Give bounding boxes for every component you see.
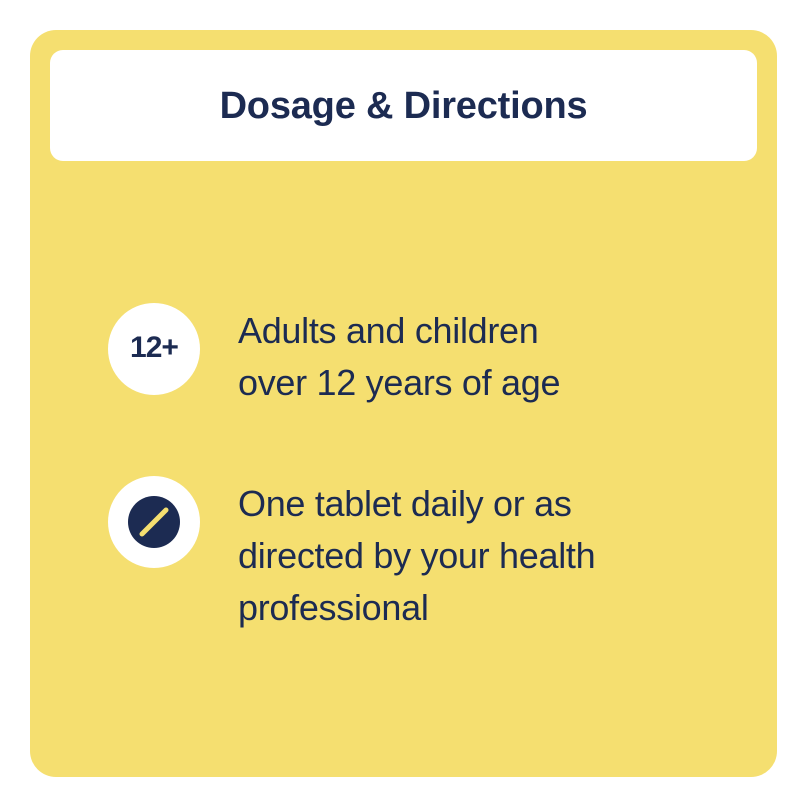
age-12-plus-badge-icon: 12+ — [108, 303, 200, 395]
list-item: 12+ Adults and children over 12 years of… — [108, 303, 560, 409]
dosage-directions-infographic: Dosage & Directions 12+ Adults and child… — [0, 0, 800, 800]
list-item: One tablet daily or as directed by your … — [108, 476, 595, 634]
list-item-text: Adults and children over 12 years of age — [238, 305, 560, 409]
tablet-icon — [128, 496, 180, 548]
list-item-text: One tablet daily or as directed by your … — [238, 478, 595, 634]
yellow-panel: Dosage & Directions 12+ Adults and child… — [30, 30, 777, 777]
age-badge-label: 12+ — [130, 333, 178, 363]
tablet-badge — [108, 476, 200, 568]
dosage-items-list: 12+ Adults and children over 12 years of… — [30, 30, 777, 777]
